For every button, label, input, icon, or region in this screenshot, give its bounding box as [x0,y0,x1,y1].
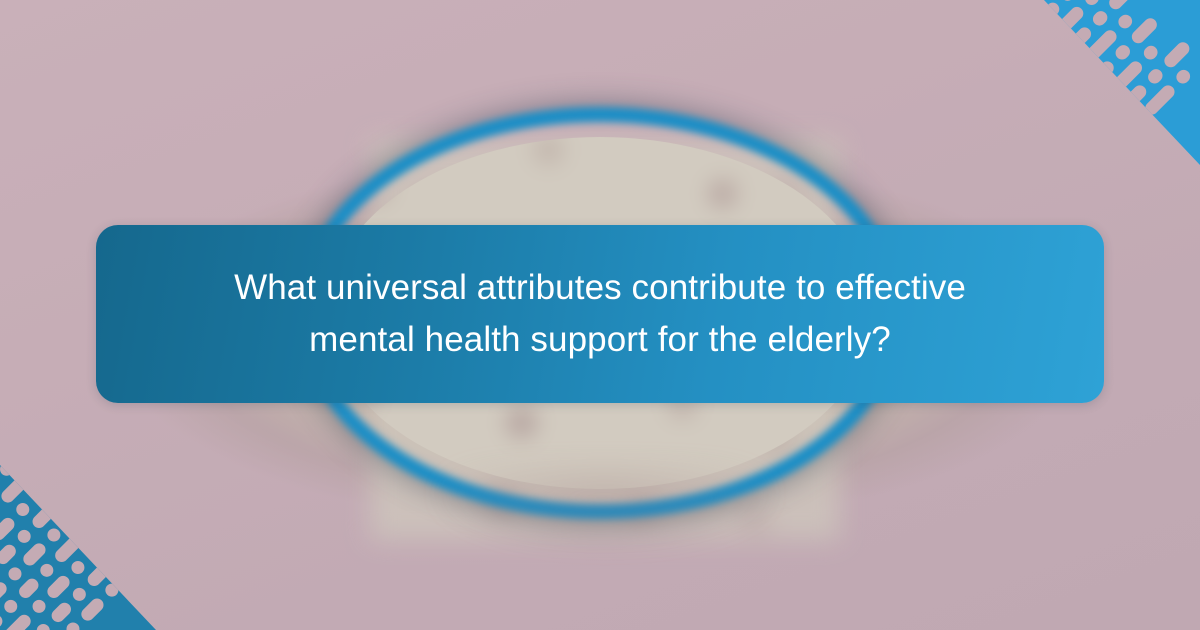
question-text: What universal attributes contribute to … [166,262,1034,366]
question-card: What universal attributes contribute to … [0,0,1200,630]
question-banner: What universal attributes contribute to … [96,225,1104,403]
photo-spill-below-oval [420,470,790,590]
